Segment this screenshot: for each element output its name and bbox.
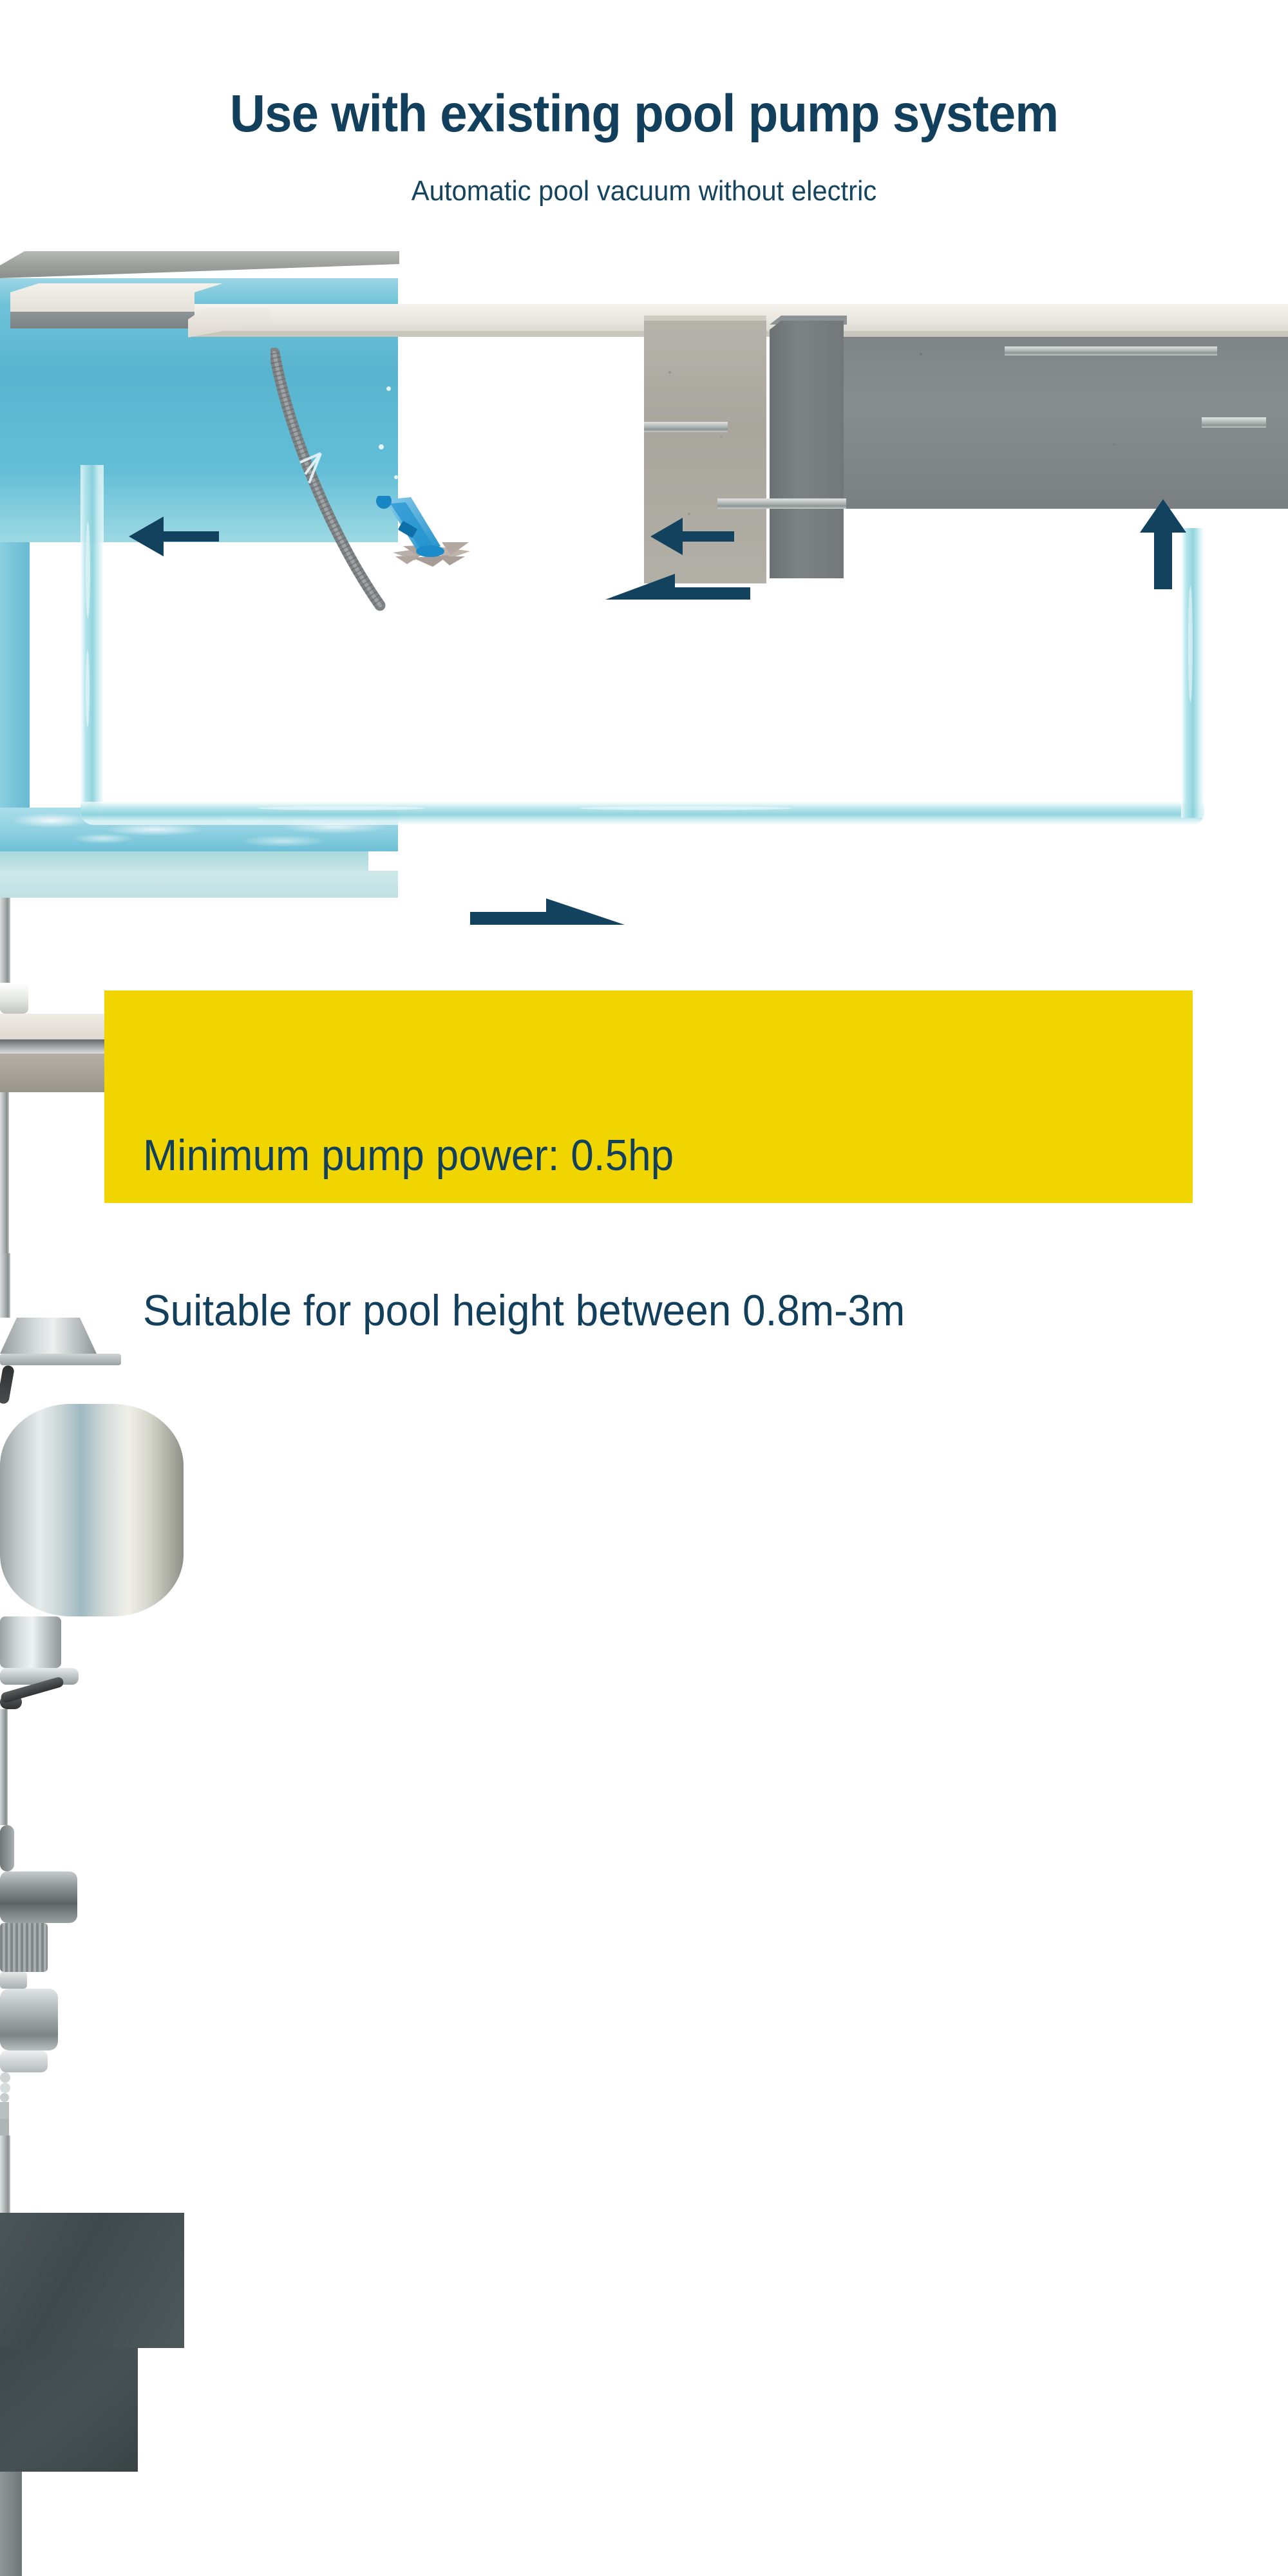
- skimmer-box-interior: [0, 2348, 138, 2472]
- water-bubble: [580, 437, 583, 440]
- pool-vacuum-head: [374, 496, 489, 586]
- pool-water-side-wall: [0, 542, 30, 808]
- pool-system-diagram: [0, 251, 1288, 979]
- return-loop-bottom-pipe: [80, 802, 1204, 825]
- pump-junction-box: [0, 1972, 27, 1989]
- sand-filter-foot: [0, 1354, 121, 1365]
- skimmer-lid: [10, 283, 223, 312]
- pump-riser-pipe: [0, 1709, 8, 1825]
- water-bubble: [394, 475, 398, 479]
- pump-discharge-pipe: [1202, 417, 1266, 428]
- second-concrete-wall: [770, 321, 844, 578]
- page-subtitle: Automatic pool vacuum without electric: [32, 177, 1256, 205]
- arrow-skimmer-inlet-flow: [129, 515, 219, 558]
- arrow-pump-intake-flow: [1140, 499, 1186, 589]
- sand-filter-neck: [0, 1616, 61, 1668]
- pool-floor: [0, 871, 398, 898]
- pump-mounting-foot: [0, 2102, 9, 2119]
- arrow-return-line-flow-bottom: [470, 895, 625, 927]
- spec-callout-text: Minimum pump power: 0.5hp Suitable for p…: [143, 1027, 905, 1440]
- water-bubble: [558, 464, 563, 469]
- pump-bolt: [0, 2093, 9, 2102]
- pool-wall-inlet-fitting: [0, 983, 28, 1014]
- pump-motor-cooling-fins: [0, 1923, 48, 1972]
- pump-strainer-lid: [0, 2050, 48, 2072]
- pump-discharge-riser: [0, 2136, 10, 2213]
- arrow-pool-suction-flow: [650, 516, 734, 556]
- skimmer-left-wall: [0, 2472, 22, 2576]
- pipe-highlight: [86, 650, 90, 728]
- filter-return-pipe-top: [1005, 346, 1217, 355]
- spec-callout-box: Minimum pump power: 0.5hp Suitable for p…: [104, 990, 1193, 1203]
- suction-pipe-horizontal: [644, 422, 728, 432]
- water-bubble: [577, 491, 582, 495]
- pump-mounting-foot: [0, 2119, 9, 2136]
- spec-line-pump-power: Minimum pump power: 0.5hp: [143, 1130, 905, 1181]
- pool-floor-back: [0, 851, 368, 871]
- pipe-highlight: [580, 806, 792, 810]
- pipe-highlight: [1188, 586, 1193, 702]
- pipe-highlight: [258, 806, 425, 810]
- spec-line-pool-height: Suitable for pool height between 0.8m-3m: [143, 1285, 905, 1336]
- water-bubble: [567, 406, 573, 412]
- water-bubble: [451, 389, 454, 392]
- filter-inlet-riser: [0, 1253, 10, 1318]
- water-bubble: [399, 419, 403, 422]
- arrow-return-flow-top: [605, 570, 760, 602]
- pump-motor-endcap: [0, 1825, 14, 1871]
- sand-filter-drain-hose: [0, 1365, 15, 1405]
- equipment-back-wall: [844, 316, 1288, 509]
- water-bubble: [386, 386, 391, 391]
- pump-bolt: [0, 2083, 10, 2093]
- skimmer-box-outer: [0, 2213, 184, 2348]
- page-root: Use with existing pool pump system Autom…: [0, 0, 1288, 1288]
- return-loop-left-pipe: [80, 465, 104, 816]
- water-bubble: [379, 444, 384, 450]
- sand-filter-base: [0, 1318, 97, 1354]
- suction-pipe-to-pump: [717, 498, 846, 509]
- pump-bolt: [0, 2072, 10, 2083]
- pool-pump-motor: [0, 1871, 77, 1923]
- page-title: Use with existing pool pump system: [45, 88, 1243, 140]
- filter-return-pipe-down: [0, 1092, 9, 1253]
- pump-wet-end-housing: [0, 1989, 58, 2050]
- pipe-highlight: [86, 522, 90, 618]
- suction-pipe-elbow: [0, 898, 10, 983]
- water-bubble: [551, 515, 555, 519]
- skimmer-lid-edge: [10, 312, 194, 328]
- pool-coping: [0, 251, 399, 278]
- water-bubble: [586, 528, 592, 534]
